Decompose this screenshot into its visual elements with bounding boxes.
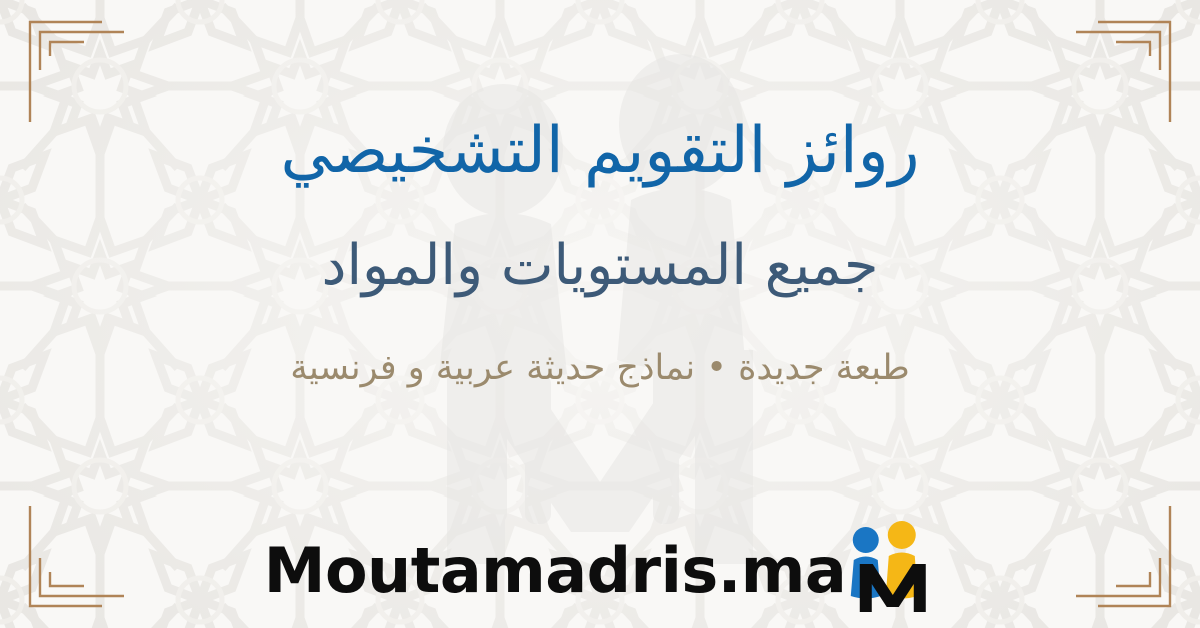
headline: روائز التقويم التشخيصي bbox=[281, 118, 920, 185]
moutamadris-figures-m-icon bbox=[846, 520, 942, 612]
share-card: روائز التقويم التشخيصي جميع المستويات وا… bbox=[0, 0, 1200, 628]
brand-logo[interactable]: Moutamadris.ma bbox=[264, 516, 936, 612]
tagline: طبعة جديدة • نماذج حديثة عربية و فرنسية bbox=[290, 349, 909, 388]
brand-wordmark: Moutamadris.ma bbox=[264, 540, 846, 612]
subheadline: جميع المستويات والمواد bbox=[322, 237, 879, 295]
